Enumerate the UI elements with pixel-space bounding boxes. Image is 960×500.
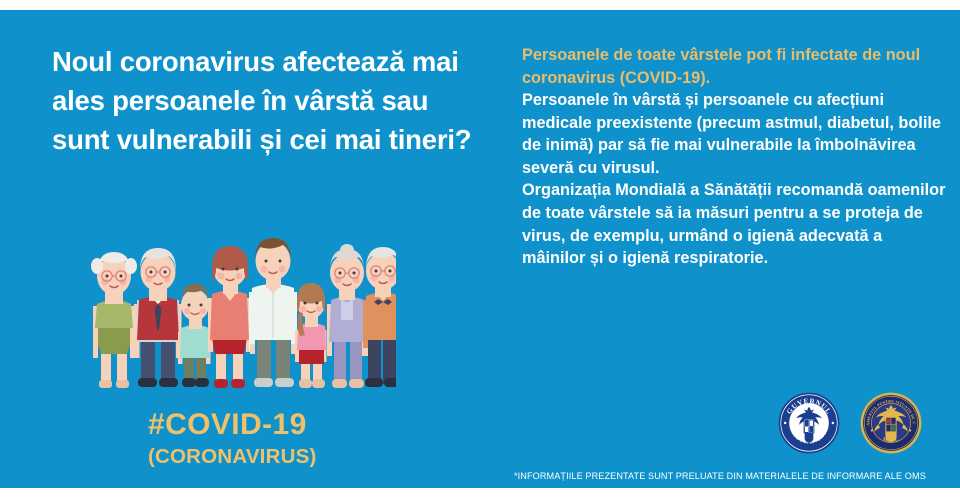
guvernul-romaniei-seal: GUVERNUL ROMÂNIEI (778, 392, 840, 454)
family-illustration (86, 226, 396, 396)
figure-girl-child (295, 283, 327, 388)
figure-grandfather-left (134, 248, 182, 387)
paragraph-who-recommendation: Organizația Mondială a Sănătății recoman… (522, 179, 946, 269)
right-column: Persoanele de toate vârstele pot fi infe… (500, 10, 960, 488)
paragraph-vulnerable-groups: Persoanele în vârstă și persoanele cu af… (522, 89, 946, 179)
seals-group: GUVERNUL ROMÂNIEI (778, 392, 922, 454)
page-title: Noul coronavirus afectează mai ales pers… (52, 42, 482, 159)
figure-boy-child (178, 284, 211, 387)
left-column: Noul coronavirus afectează mai ales pers… (0, 10, 500, 488)
hashtag-covid19: #COVID-19 (148, 408, 478, 443)
poster-canvas: Noul coronavirus afectează mai ales pers… (0, 10, 960, 488)
footnote-source: *INFORMAȚIILE PREZENTATE SUNT PRELUATE D… (514, 471, 960, 482)
lead-paragraph: Persoanele de toate vârstele pot fi infe… (522, 44, 946, 89)
departamentul-situatii-urgenta-seal: DEPARTAMENTUL PENTRU SITUAȚII DE URGENȚĂ… (860, 392, 922, 454)
figure-grandmother-right (327, 244, 367, 388)
hashtag-block: #COVID-19 (CORONAVIRUS) (148, 408, 478, 468)
figure-grandmother-left (91, 252, 137, 388)
hashtag-subtitle: (CORONAVIRUS) (148, 445, 478, 469)
figure-mother (208, 246, 251, 388)
body-copy: Persoanele de toate vârstele pot fi infe… (522, 44, 946, 270)
figure-father (249, 238, 297, 387)
figure-grandfather-right (363, 247, 396, 387)
